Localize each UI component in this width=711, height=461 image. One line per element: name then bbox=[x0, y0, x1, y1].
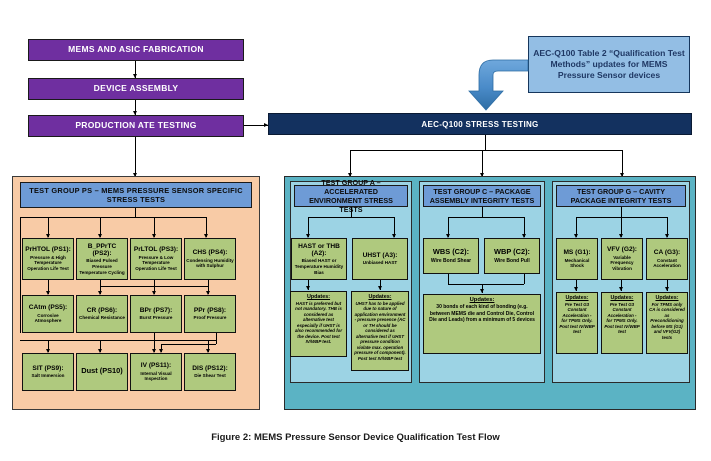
update-title: Updates: bbox=[307, 294, 330, 300]
test-desc: Condensing Humidity with Sulphur bbox=[186, 258, 234, 269]
test-desc: Corrosive Atmosphere bbox=[24, 313, 72, 324]
test-box-ps7: BPr (PS7): Burst Pressure bbox=[130, 295, 182, 333]
test-desc: Internal Visual Inspection bbox=[132, 371, 180, 382]
arrow-g1-update-icon bbox=[574, 287, 578, 291]
connector-stress-trunk bbox=[485, 135, 486, 150]
test-box-c2-wbs: WBS (C2): Wire Bond Shear bbox=[423, 238, 479, 274]
curved-arrow-callout-to-stress-icon bbox=[465, 55, 545, 117]
connector-c-wbs-down bbox=[448, 274, 449, 284]
test-box-g3: CA (G3): Constant Acceleration bbox=[646, 238, 688, 280]
update-box-a3: Updates: UHST has to be applied due to n… bbox=[351, 291, 409, 371]
connector-ps7-down bbox=[154, 333, 155, 340]
update-title: Updates: bbox=[655, 295, 678, 301]
connector-ps-header-trunk bbox=[135, 208, 136, 217]
group-header-g: TEST GROUP G – CAVITY PACKAGE INTEGRITY … bbox=[556, 185, 686, 207]
connector-ate-to-ps-panel bbox=[135, 137, 136, 177]
test-box-g1: MS (G1): Mechanical Shock bbox=[556, 238, 598, 280]
test-box-ps10: Dust (PS10) bbox=[76, 353, 128, 391]
test-code: BPr (PS7): bbox=[140, 307, 173, 314]
arrow-g3-update-icon bbox=[665, 287, 669, 291]
connector-ps8-down bbox=[216, 333, 217, 340]
test-desc: Pressure & High Temperature Operation Li… bbox=[24, 255, 72, 272]
test-code: IV (PS11): bbox=[141, 362, 171, 369]
connector-ps-row3-bus bbox=[20, 340, 216, 341]
test-desc: Biased Pulsed Pressure Temperature Cycli… bbox=[78, 258, 126, 275]
test-box-a2: HAST or THB (A2): Biased HAST or Tempera… bbox=[291, 238, 347, 280]
test-code: CR (PS6): bbox=[87, 307, 117, 314]
test-code: MS (G1): bbox=[563, 249, 590, 256]
test-box-ps12: DIS (PS12): Die Shear Test bbox=[184, 353, 236, 391]
update-title: Updates: bbox=[565, 295, 588, 301]
diagram-canvas: MEMS AND ASIC FABRICATION DEVICE ASSEMBL… bbox=[0, 0, 711, 461]
test-code: B_PPrTC (PS2): bbox=[78, 243, 126, 258]
test-code: PrLTOL (PS3): bbox=[134, 246, 178, 253]
arrow-a2-update-icon bbox=[306, 286, 310, 290]
test-code: Dust (PS10) bbox=[81, 367, 122, 375]
group-header-c: TEST GROUP C – PACKAGE ASSEMBLY INTEGRIT… bbox=[423, 185, 541, 207]
test-code: VFV (G2): bbox=[607, 246, 637, 253]
update-box-g3: Updates: For TPMS only CA is considered … bbox=[646, 292, 688, 354]
group-header-label: TEST GROUP PS – MEMS PRESSURE SENSOR SPE… bbox=[23, 186, 249, 205]
group-header-a: TEST GROUP A – ACCELERATED ENVIRONMENT S… bbox=[294, 185, 408, 207]
update-body: Pre Test G3 Constant Acceleration - for … bbox=[559, 302, 595, 335]
update-body: UHST has to be applied due to nature of … bbox=[354, 301, 406, 361]
test-box-ps1: PrHTOL (PS1): Pressure & High Temperatur… bbox=[22, 238, 74, 280]
aec-q100-stress-testing-bar: AEC-Q100 STRESS TESTING bbox=[268, 113, 692, 135]
test-box-ps8: PPr (PS8): Proof Pressure bbox=[184, 295, 236, 333]
test-code: CA (G3): bbox=[654, 249, 681, 256]
test-desc: Variable Frequency Vibration bbox=[603, 255, 641, 272]
connector-a-trunk bbox=[351, 207, 352, 217]
test-box-a3: UHST (A3): Unbiased HAST bbox=[352, 238, 408, 280]
test-code: DIS (PS12): bbox=[192, 365, 228, 372]
test-box-ps9: SIT (PS9): Salt Immersion bbox=[22, 353, 74, 391]
update-box-c2: Updates: 30 bonds of each kind of bondin… bbox=[423, 294, 541, 354]
test-box-g2: VFV (G2): Variable Frequency Vibration bbox=[601, 238, 643, 280]
arrow-c-update-icon bbox=[480, 289, 484, 293]
update-body: For TPMS only CA is considered as Precon… bbox=[649, 302, 685, 340]
test-desc: Die Shear Test bbox=[194, 373, 226, 379]
test-desc: Proof Pressure bbox=[194, 315, 227, 321]
test-desc: Biased HAST or Temperature Humidity Bias bbox=[293, 258, 345, 275]
test-desc: Salt Immersion bbox=[32, 373, 65, 379]
group-header-label: TEST GROUP C – PACKAGE ASSEMBLY INTEGRIT… bbox=[426, 187, 538, 205]
test-box-ps2: B_PPrTC (PS2): Biased Pulsed Pressure Te… bbox=[76, 238, 128, 280]
connector-c-wbp-down bbox=[524, 274, 525, 284]
flow-step-device-assembly: DEVICE ASSEMBLY bbox=[28, 78, 244, 100]
test-desc: Wire Bond Pull bbox=[494, 258, 530, 264]
flow-step-mems-asic-fabrication: MEMS AND ASIC FABRICATION bbox=[28, 39, 244, 61]
connector-a-bus bbox=[308, 217, 394, 218]
figure-caption: Figure 2: MEMS Pressure Sensor Device Qu… bbox=[0, 432, 711, 443]
connector-ps-left-rail bbox=[20, 217, 21, 333]
connector-c-trunk bbox=[482, 207, 483, 217]
test-desc: Burst Pressure bbox=[140, 315, 173, 321]
test-box-ps11: IV (PS11): Internal Visual Inspection bbox=[130, 353, 182, 391]
test-box-c2-wbp: WBP (C2): Wire Bond Pull bbox=[484, 238, 540, 274]
callout-aec-q100-table2: AEC-Q100 Table 2 “Qualification Test Met… bbox=[528, 36, 690, 93]
test-desc: Chemical Resistance bbox=[79, 315, 125, 321]
connector-c-bus bbox=[448, 217, 524, 218]
connector-stress-bus bbox=[350, 150, 622, 151]
connector-ps8-branch-drop bbox=[216, 340, 217, 344]
test-code: HAST or THB (A2): bbox=[293, 243, 345, 258]
test-code: PrHTOL (PS1): bbox=[25, 246, 71, 253]
test-code: SIT (PS9): bbox=[32, 365, 63, 372]
test-desc: Constant Acceleration bbox=[648, 258, 686, 269]
test-box-ps6: CR (PS6): Chemical Resistance bbox=[76, 295, 128, 333]
test-code: CAtm (PS5): bbox=[29, 304, 67, 311]
test-box-ps5: CAtm (PS5): Corrosive Atmosphere bbox=[22, 295, 74, 333]
update-box-g1: Updates: Pre Test G3 Constant Accelerati… bbox=[556, 292, 598, 354]
update-title: Updates: bbox=[368, 294, 391, 300]
update-body: HAST is preferred but not mandatory. THB… bbox=[293, 301, 344, 345]
test-desc: Unbiased HAST bbox=[363, 260, 397, 266]
connector-c-merge-bus bbox=[448, 284, 524, 285]
connector-ps-row1-bus bbox=[48, 217, 206, 218]
test-desc: Wire Bond Shear bbox=[431, 258, 471, 264]
test-desc: Pressure & Low Temperature Operation Lif… bbox=[132, 255, 180, 272]
update-title: Updates: bbox=[610, 295, 633, 301]
connector-ps-row2-bus bbox=[100, 286, 208, 287]
update-box-g2: Updates: Pre Test G3 Constant Accelerati… bbox=[601, 292, 643, 354]
flow-step-label: PRODUCTION ATE TESTING bbox=[75, 121, 196, 131]
test-box-ps4: CHS (PS4): Condensing Humidity with Sulp… bbox=[184, 238, 236, 280]
callout-text: AEC-Q100 Table 2 “Qualification Test Met… bbox=[533, 48, 685, 80]
test-code: CHS (PS4): bbox=[193, 249, 228, 256]
update-body: Pre Test G3 Constant Acceleration - for … bbox=[604, 302, 640, 335]
arrow-a3-update-icon bbox=[378, 286, 382, 290]
group-header-ps: TEST GROUP PS – MEMS PRESSURE SENSOR SPE… bbox=[20, 182, 252, 208]
test-box-ps3: PrLTOL (PS3): Pressure & Low Temperature… bbox=[130, 238, 182, 280]
flow-step-label: DEVICE ASSEMBLY bbox=[94, 84, 179, 94]
test-code: WBS (C2): bbox=[433, 248, 469, 256]
flow-step-production-ate-testing: PRODUCTION ATE TESTING bbox=[28, 115, 244, 137]
test-code: UHST (A3): bbox=[363, 252, 398, 259]
connector-g-trunk bbox=[621, 207, 622, 217]
group-header-label: TEST GROUP G – CAVITY PACKAGE INTEGRITY … bbox=[559, 187, 683, 205]
stress-testing-label: AEC-Q100 STRESS TESTING bbox=[421, 120, 538, 129]
connector-ps-left-rail-top bbox=[20, 217, 48, 218]
arrow-g2-update-icon bbox=[619, 287, 623, 291]
test-code: WBP (C2): bbox=[494, 248, 530, 256]
test-code: PPr (PS8): bbox=[194, 307, 226, 314]
flow-step-label: MEMS AND ASIC FABRICATION bbox=[68, 45, 204, 55]
test-desc: Mechanical Shock bbox=[558, 258, 596, 269]
update-box-a2: Updates: HAST is preferred but not manda… bbox=[290, 291, 347, 357]
update-body: 30 bonds of each kind of bonding (e.g. b… bbox=[426, 304, 538, 323]
update-title: Updates: bbox=[470, 297, 495, 304]
